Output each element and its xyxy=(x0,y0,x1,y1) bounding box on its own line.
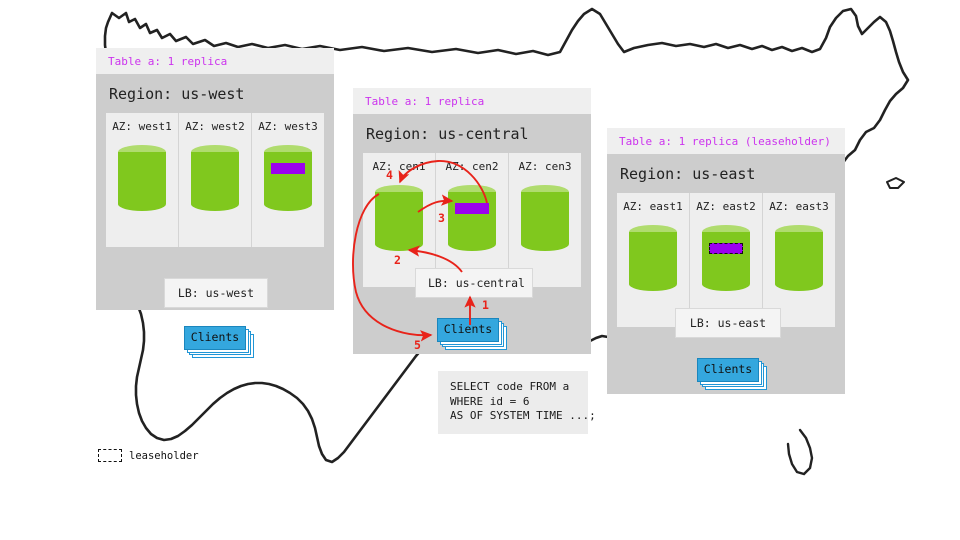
cylinder-body-icon xyxy=(375,192,423,244)
clients-label-us-central: Clients xyxy=(437,318,499,342)
az-row-us-east: AZ: east1 AZ: east2 xyxy=(617,193,835,327)
az-label-west3: AZ: west3 xyxy=(256,120,320,133)
az-card-east1[interactable]: AZ: east1 xyxy=(617,193,689,327)
region-body-us-west: Region: us-west AZ: west1 AZ: west2 xyxy=(96,74,334,310)
region-title-us-west: Region: us-west xyxy=(109,85,324,103)
node-cylinder-cen2[interactable] xyxy=(448,185,496,251)
region-header-us-west: Table a: 1 replica xyxy=(96,48,334,74)
az-card-cen3[interactable]: AZ: cen3 xyxy=(508,153,581,287)
az-label-cen1: AZ: cen1 xyxy=(367,160,431,173)
step-number-1: 1 xyxy=(482,298,489,312)
sql-query-note: SELECT code FROM a WHERE id = 6 AS OF SY… xyxy=(438,371,588,434)
node-cylinder-cen1[interactable] xyxy=(375,185,423,251)
clients-us-west[interactable]: Clients xyxy=(184,326,246,350)
region-header-us-east: Table a: 1 replica (leaseholder) xyxy=(607,128,845,154)
az-row-us-west: AZ: west1 AZ: west2 AZ xyxy=(106,113,324,247)
az-card-west1[interactable]: AZ: west1 xyxy=(106,113,178,247)
clients-label-us-west: Clients xyxy=(184,326,246,350)
replica-marker-cen2 xyxy=(455,203,489,214)
node-cylinder-west2[interactable] xyxy=(191,145,239,211)
load-balancer-us-central[interactable]: LB: us-central xyxy=(415,268,533,298)
cylinder-body-icon xyxy=(702,232,750,284)
region-panel-us-central: Table a: 1 replica Region: us-central AZ… xyxy=(353,88,591,354)
cylinder-body-icon xyxy=(775,232,823,284)
leaseholder-marker-east2 xyxy=(709,243,743,254)
clients-us-central[interactable]: Clients xyxy=(437,318,499,342)
az-card-west2[interactable]: AZ: west2 xyxy=(178,113,251,247)
node-cylinder-west1[interactable] xyxy=(118,145,166,211)
step-number-2: 2 xyxy=(394,253,401,267)
node-cylinder-west3[interactable] xyxy=(264,145,312,211)
clients-us-east[interactable]: Clients xyxy=(697,358,759,382)
node-cylinder-east2[interactable] xyxy=(702,225,750,291)
az-label-cen3: AZ: cen3 xyxy=(513,160,577,173)
region-panel-us-east: Table a: 1 replica (leaseholder) Region:… xyxy=(607,128,845,394)
legend-label: leaseholder xyxy=(129,450,199,462)
region-panel-us-west: Table a: 1 replica Region: us-west AZ: w… xyxy=(96,48,334,310)
cylinder-body-icon xyxy=(629,232,677,284)
az-label-west2: AZ: west2 xyxy=(183,120,247,133)
clients-label-us-east: Clients xyxy=(697,358,759,382)
cylinder-body-icon xyxy=(521,192,569,244)
node-cylinder-east3[interactable] xyxy=(775,225,823,291)
replica-label-us-central: Table a: 1 replica xyxy=(365,95,581,108)
cylinder-body-icon xyxy=(191,152,239,204)
region-header-us-central: Table a: 1 replica xyxy=(353,88,591,114)
replica-label-us-east: Table a: 1 replica (leaseholder) xyxy=(619,135,835,148)
node-cylinder-east1[interactable] xyxy=(629,225,677,291)
node-cylinder-cen3[interactable] xyxy=(521,185,569,251)
az-card-east3[interactable]: AZ: east3 xyxy=(762,193,835,327)
load-balancer-us-west[interactable]: LB: us-west xyxy=(164,278,268,308)
az-card-west3[interactable]: AZ: west3 xyxy=(251,113,324,247)
leaseholder-swatch-icon xyxy=(98,449,122,462)
replica-marker-west3 xyxy=(271,163,305,174)
diagram-canvas: Table a: 1 replica Region: us-west AZ: w… xyxy=(0,0,960,540)
step-number-4: 4 xyxy=(386,168,393,182)
cylinder-body-icon xyxy=(448,192,496,244)
az-card-cen2[interactable]: AZ: cen2 xyxy=(435,153,508,287)
az-label-east3: AZ: east3 xyxy=(767,200,831,213)
cylinder-body-icon xyxy=(118,152,166,204)
replica-label-us-west: Table a: 1 replica xyxy=(108,55,324,68)
az-label-east2: AZ: east2 xyxy=(694,200,758,213)
legend-leaseholder: leaseholder xyxy=(98,449,199,462)
load-balancer-us-east[interactable]: LB: us-east xyxy=(675,308,781,338)
az-label-east1: AZ: east1 xyxy=(621,200,685,213)
az-label-west1: AZ: west1 xyxy=(110,120,174,133)
az-label-cen2: AZ: cen2 xyxy=(440,160,504,173)
cylinder-body-icon xyxy=(264,152,312,204)
region-title-us-central: Region: us-central xyxy=(366,125,581,143)
region-title-us-east: Region: us-east xyxy=(620,165,835,183)
az-card-east2[interactable]: AZ: east2 xyxy=(689,193,762,327)
step-number-3: 3 xyxy=(438,211,445,225)
step-number-5: 5 xyxy=(414,338,421,352)
